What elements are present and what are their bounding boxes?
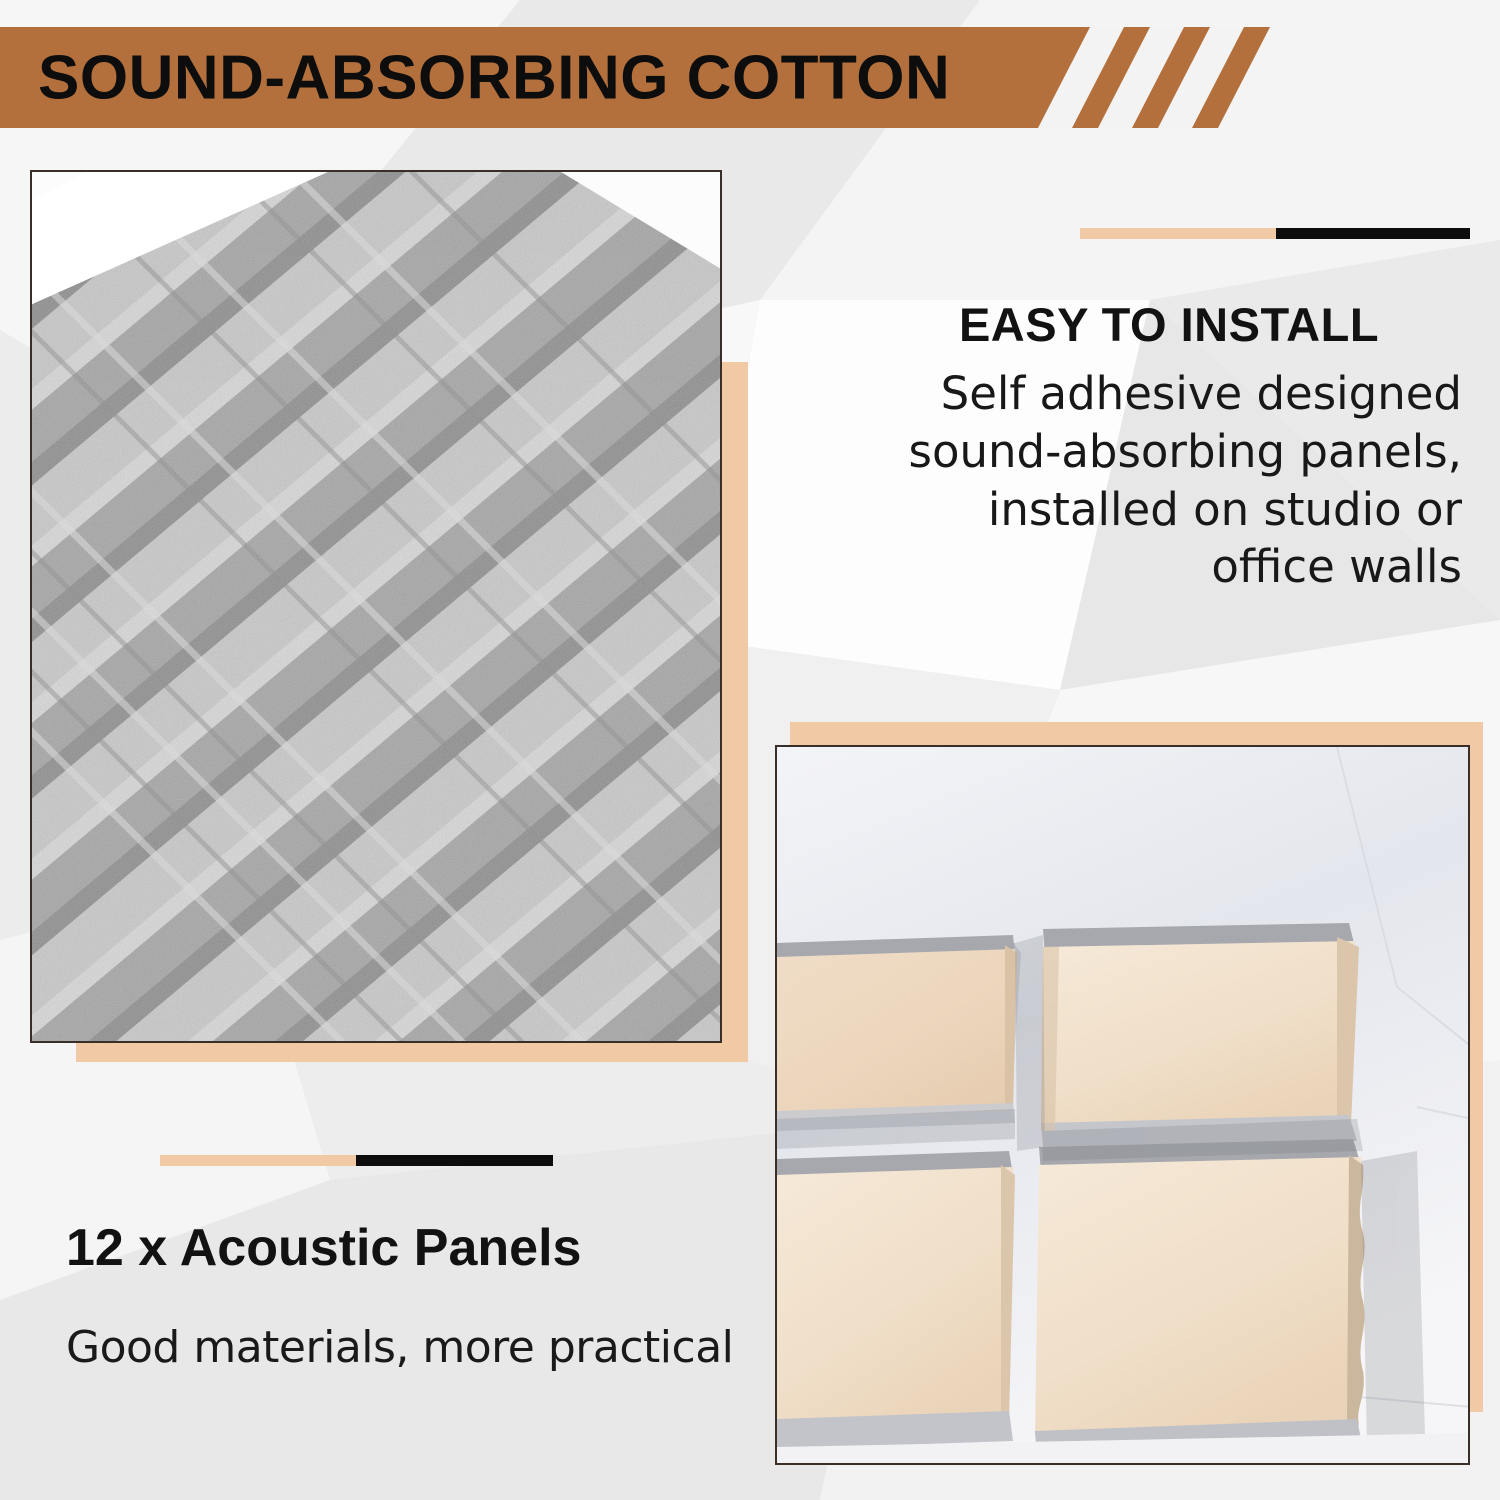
rule-segment-black	[356, 1155, 553, 1166]
foam-illustration	[32, 172, 720, 1041]
panel-top-right	[1041, 923, 1359, 1147]
left-text-block: 12 x Acoustic Panels Good materials, mor…	[66, 1218, 766, 1373]
panel-top-left-slab	[777, 935, 1017, 1131]
rule-segment-black	[1276, 228, 1470, 239]
acoustic-foam-closeup-photo	[30, 170, 722, 1043]
foam-body	[32, 172, 720, 1041]
infographic-page: SOUND-ABSORBING COTTON	[0, 0, 1500, 1500]
rule-segment-peach	[160, 1155, 356, 1166]
right-divider-rule	[1080, 228, 1470, 239]
right-body-text: Self adhesive designed sound-absorbing p…	[880, 365, 1470, 595]
left-heading: 12 x Acoustic Panels	[66, 1218, 766, 1278]
page-title: SOUND-ABSORBING COTTON	[38, 42, 950, 113]
left-subheading: Good materials, more practical	[66, 1322, 766, 1373]
panel-bottom-left	[777, 1151, 1015, 1449]
panels-with-adhesive-photo	[775, 745, 1470, 1465]
panel-bottom-right	[1035, 1139, 1365, 1459]
rule-segment-peach	[1080, 228, 1276, 239]
foam-texture	[32, 172, 720, 1041]
left-divider-rule	[160, 1155, 553, 1166]
right-text-block: EASY TO INSTALL Self adhesive designed s…	[880, 300, 1470, 596]
right-heading: EASY TO INSTALL	[880, 300, 1470, 349]
panels-illustration	[777, 747, 1470, 1465]
header-banner: SOUND-ABSORBING COTTON	[0, 27, 1270, 128]
